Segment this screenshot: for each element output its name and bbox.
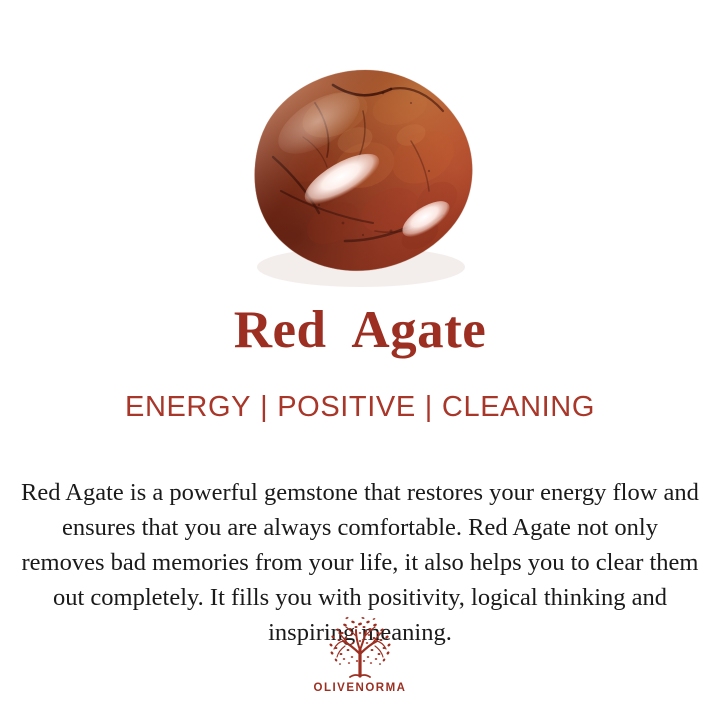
keyword-separator-2: | bbox=[416, 391, 442, 423]
keyword-separator-1: | bbox=[251, 391, 277, 423]
red-agate-stone-image bbox=[215, 45, 505, 290]
product-title: Red Agate bbox=[0, 303, 720, 359]
product-info-card: Red Agate ENERGY|POSITIVE|CLEANING Red A… bbox=[0, 0, 720, 720]
keyword-energy: ENERGY bbox=[125, 391, 251, 423]
brand-logo: OLIVENORMA bbox=[0, 616, 720, 694]
keyword-list: ENERGY|POSITIVE|CLEANING bbox=[0, 392, 720, 424]
tree-of-life-icon bbox=[323, 616, 397, 680]
brand-name: OLIVENORMA bbox=[0, 682, 720, 694]
keyword-positive: POSITIVE bbox=[277, 391, 416, 423]
keyword-cleaning: CLEANING bbox=[442, 391, 595, 423]
gemstone-image-area bbox=[0, 0, 720, 290]
